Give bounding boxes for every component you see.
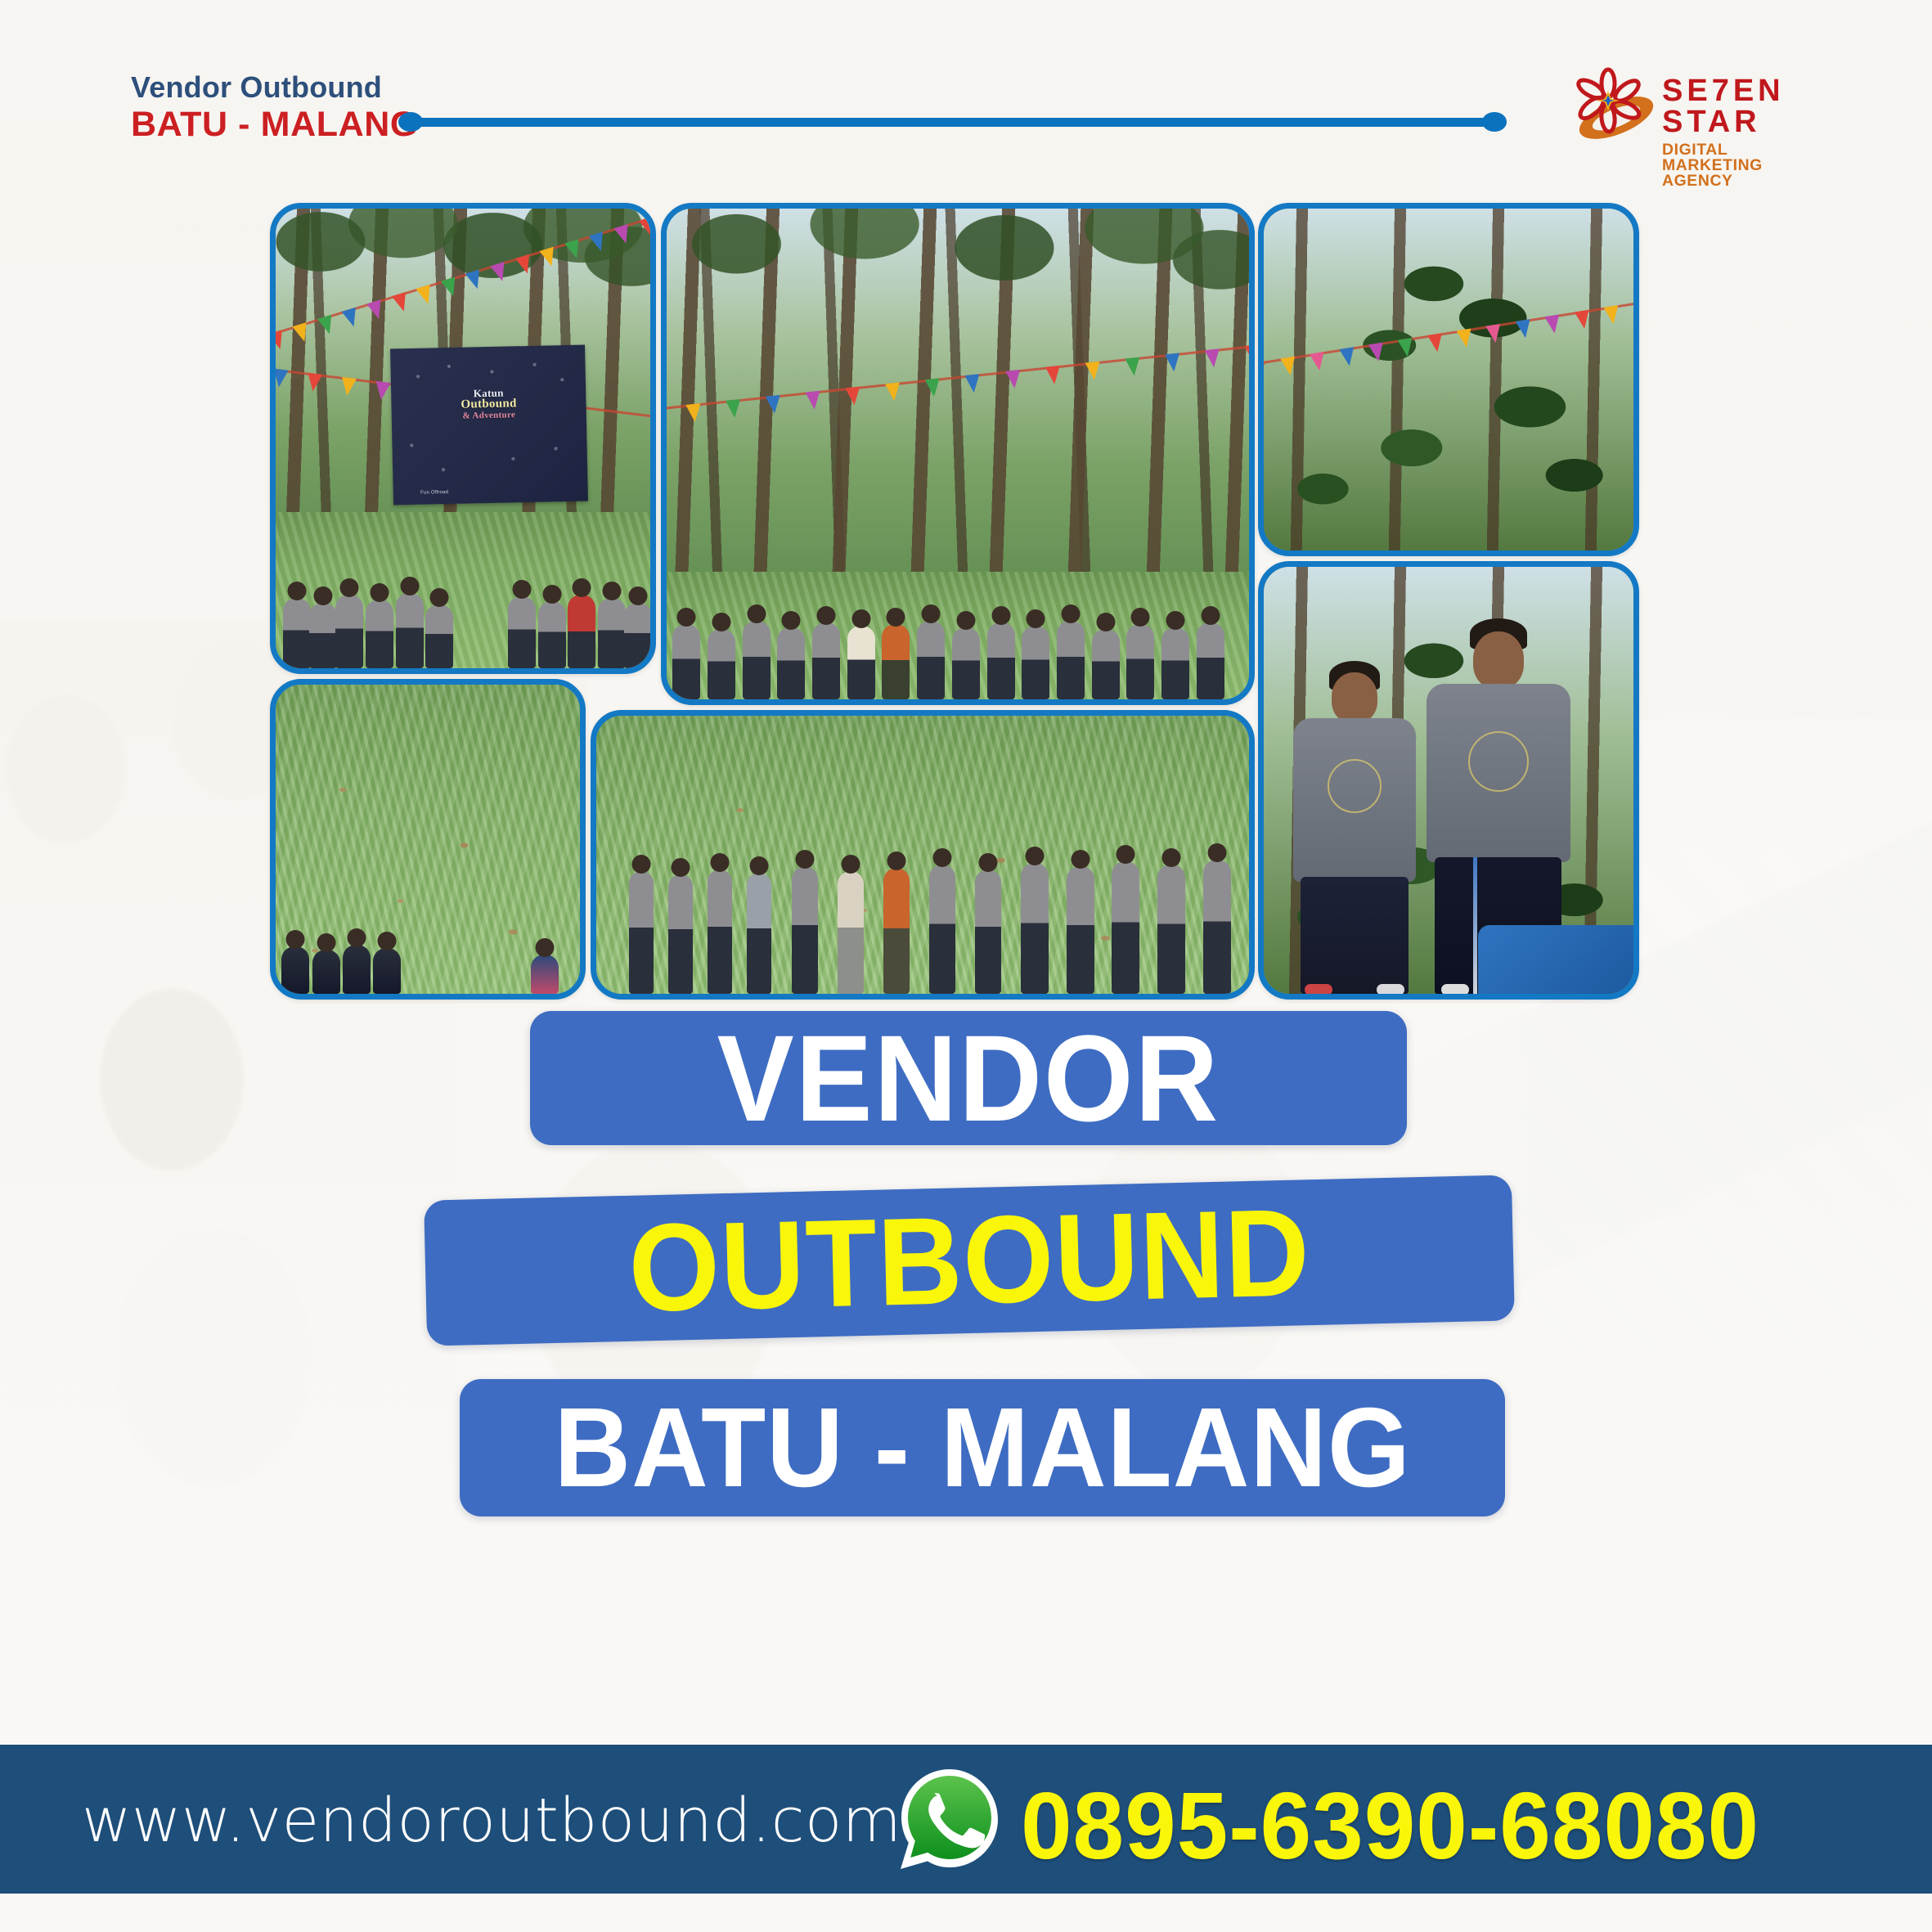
headline-block-batu-malang: BATU - MALANG	[460, 1379, 1505, 1516]
headline-text-batu-malang: BATU - MALANG	[554, 1391, 1410, 1504]
headline-text-outbound: OUTBOUND	[627, 1190, 1311, 1331]
logo-tagline: DIGITAL MARKETING AGENCY	[1662, 142, 1827, 189]
brand-line-1: Vendor Outbound	[131, 72, 418, 103]
headline-block-vendor: VENDOR	[530, 1011, 1407, 1145]
seven-star-flower-icon	[1570, 67, 1657, 149]
company-logo: SE7EN STAR DIGITAL MARKETING AGENCY	[1570, 64, 1824, 152]
headline-block-outbound: OUTBOUND	[424, 1175, 1515, 1346]
headline-text-vendor: VENDOR	[717, 1017, 1220, 1139]
collage-photo-grass-field	[270, 679, 586, 1000]
whatsapp-icon[interactable]	[893, 1763, 1006, 1876]
person-left	[1293, 661, 1416, 994]
website-url[interactable]: www.vendoroutbound.com	[82, 1786, 901, 1856]
collage-photo-two-men	[1258, 561, 1639, 1000]
collage-photo-tropical-bunting	[1258, 203, 1639, 556]
header-divider	[398, 112, 1507, 132]
photo-scene-forest-wide	[667, 209, 1249, 699]
collage-photo-group-line	[591, 710, 1255, 1000]
headline-group: VENDOR OUTBOUND BATU - MALANG	[0, 1004, 1932, 1561]
contact-footer: www.vendoroutbound.com 0895-6390-68080	[0, 1745, 1932, 1894]
page-header: Vendor Outbound BATU - MALANG	[0, 0, 1932, 180]
logo-text: SE7EN STAR DIGITAL MARKETING AGENCY	[1662, 75, 1824, 189]
logo-name: SE7EN STAR	[1662, 75, 1824, 137]
photo-scene-foliage	[1264, 209, 1633, 550]
brand-title: Vendor Outbound BATU - MALANG	[131, 72, 418, 144]
blue-tarp	[1478, 925, 1633, 994]
photo-scene-grass	[276, 685, 580, 994]
collage-photo-forest-crowd	[661, 203, 1255, 705]
photo-collage: Katun Outbound & Adventure Fun Offroad	[270, 203, 1628, 988]
divider-dot-right	[1482, 112, 1507, 132]
divider-bar	[410, 118, 1495, 127]
photo-scene-grass-line	[596, 716, 1249, 994]
brand-line-2: BATU - MALANG	[131, 106, 418, 144]
photo-scene-forest: Katun Outbound & Adventure Fun Offroad	[276, 209, 650, 668]
collage-photo-group-banner: Katun Outbound & Adventure Fun Offroad	[270, 203, 656, 674]
photo-scene-garden	[1264, 567, 1633, 994]
whatsapp-phone-number[interactable]: 0895-6390-68080	[1021, 1771, 1759, 1880]
